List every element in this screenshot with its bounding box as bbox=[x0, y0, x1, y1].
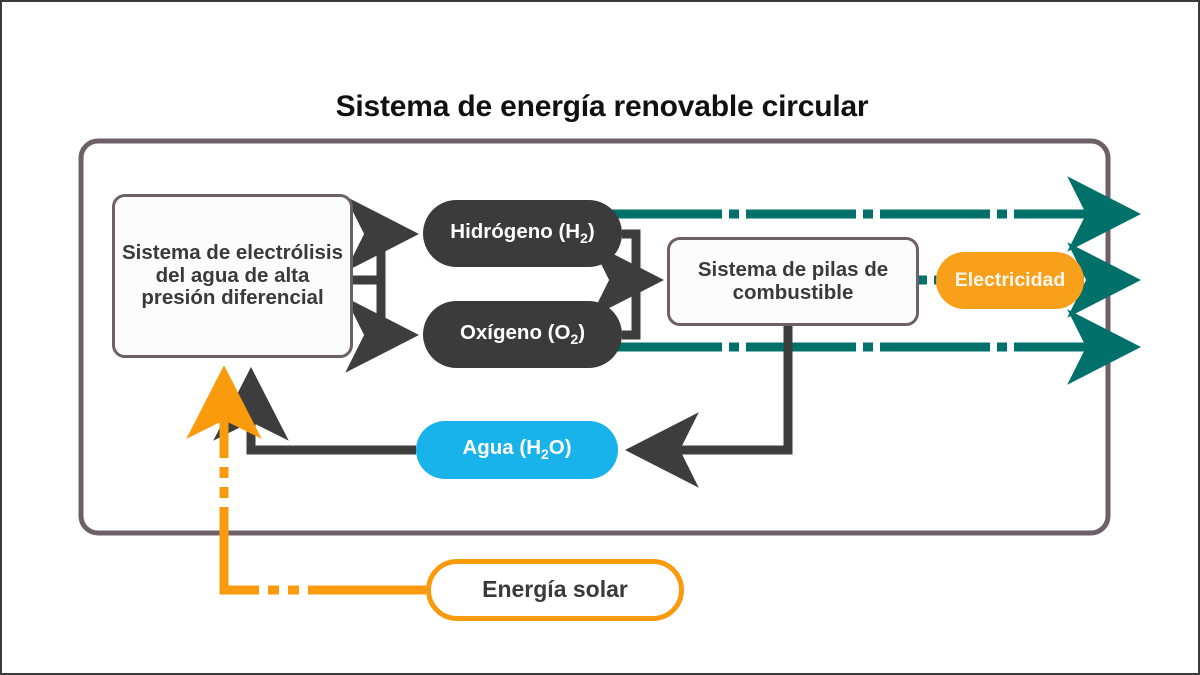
electrolysis-to-hydrogen bbox=[353, 234, 410, 280]
node-solar-energy[interactable]: Energía solar bbox=[426, 559, 684, 621]
node-water[interactable]: Agua (H2O) bbox=[416, 421, 618, 479]
node-hydrogen-label: Hidrógeno (H2) bbox=[450, 221, 594, 247]
node-fuel-cell-system[interactable]: Sistema de pilas de combustible bbox=[667, 237, 919, 326]
hydrogen-to-fuelcell bbox=[622, 234, 655, 280]
node-electrolysis-label: Sistema de electrólisis del agua de alta… bbox=[121, 242, 344, 311]
node-oxygen[interactable]: Oxígeno (O2) bbox=[423, 301, 622, 368]
diagram-canvas: Sistema de energía renovable circular bbox=[0, 0, 1200, 675]
node-solar-label: Energía solar bbox=[482, 577, 628, 603]
node-electricity[interactable]: Electricidad bbox=[936, 252, 1084, 309]
oxygen-to-fuelcell bbox=[622, 280, 636, 335]
node-fuel-cell-label: Sistema de pilas de combustible bbox=[678, 259, 908, 305]
node-electrolysis-system[interactable]: Sistema de electrólisis del agua de alta… bbox=[112, 194, 353, 358]
node-hydrogen[interactable]: Hidrógeno (H2) bbox=[423, 200, 622, 267]
water-to-electrolysis bbox=[251, 376, 416, 450]
electrolysis-to-oxygen bbox=[381, 280, 410, 335]
node-oxygen-label: Oxígeno (O2) bbox=[460, 322, 585, 348]
node-water-label: Agua (H2O) bbox=[462, 437, 571, 463]
node-electricity-label: Electricidad bbox=[955, 270, 1066, 292]
